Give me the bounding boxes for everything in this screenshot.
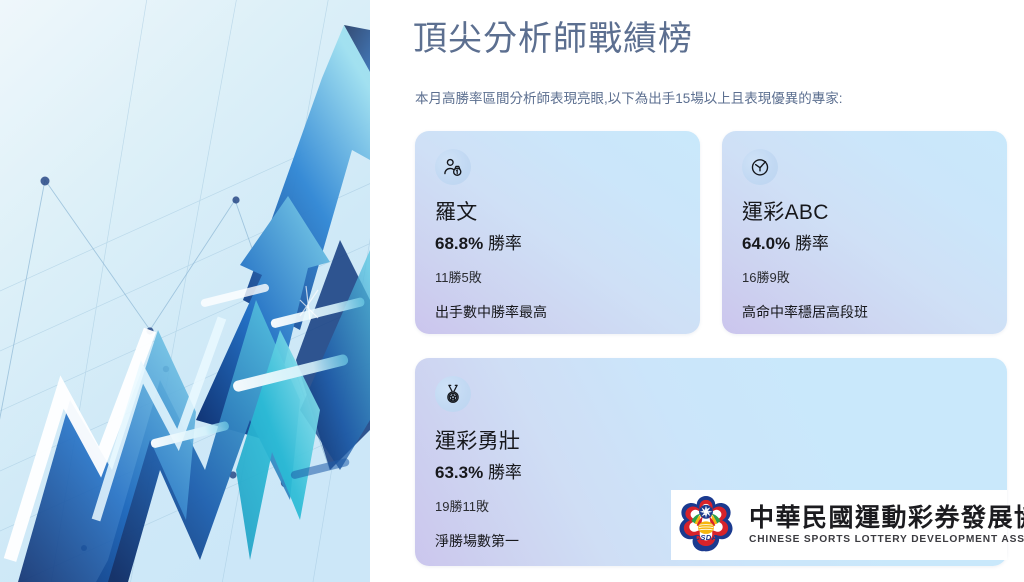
analyst-note: 出手數中勝率最高 [435, 303, 680, 322]
win-rate-label: 勝率 [488, 463, 522, 482]
csda-plum-blossom-emblem: CSDA [673, 492, 739, 558]
analyst-record: 11勝5敗 [435, 269, 680, 287]
analyst-leaderboard-page: 頂尖分析師戰績榜 本月高勝率區間分析師表現亮眼,以下為出手15場以上且表現優異的… [0, 0, 1024, 582]
association-name-cn: 中華民國運動彩券發展協會 [749, 503, 1024, 533]
top-ranked-analyst-icon [435, 149, 471, 185]
analyst-name: 羅文 [435, 199, 680, 226]
analyst-win-rate: 64.0% 勝率 [742, 232, 987, 255]
association-logo: CSDA 中華民國運動彩券發展協會 CHINESE SPORTS LOTTERY… [671, 490, 1007, 560]
analyst-card[interactable]: 羅文 68.8% 勝率 11勝5敗 出手數中勝率最高 [415, 131, 700, 334]
analyst-name: 運彩ABC [742, 199, 987, 226]
content-panel: 頂尖分析師戰績榜 本月高勝率區間分析師表現亮眼,以下為出手15場以上且表現優異的… [370, 0, 1024, 582]
hero-illustration [0, 0, 370, 582]
analyst-card[interactable]: 運彩ABC 64.0% 勝率 16勝9敗 高命中率穩居高段班 [722, 131, 1007, 334]
win-rate-value: 63.3% [435, 463, 483, 482]
clock-check-icon [742, 149, 778, 185]
win-rate-label: 勝率 [795, 234, 829, 253]
win-rate-label: 勝率 [488, 234, 522, 253]
analyst-note: 高命中率穩居高段班 [742, 303, 987, 322]
win-rate-value: 64.0% [742, 234, 790, 253]
analyst-name: 運彩勇壯 [435, 428, 987, 455]
analyst-record: 16勝9敗 [742, 269, 987, 287]
win-rate-value: 68.8% [435, 234, 483, 253]
upward-arrow-chart-illustration [0, 0, 370, 582]
medal-star-icon [435, 376, 471, 412]
association-name-block: 中華民國運動彩券發展協會 CHINESE SPORTS LOTTERY DEVE… [749, 503, 1024, 547]
emblem-text: CSDA [694, 533, 717, 542]
analyst-win-rate: 63.3% 勝率 [435, 461, 987, 484]
association-name-en: CHINESE SPORTS LOTTERY DEVELOPMENT ASSOC… [749, 533, 1024, 547]
page-subtitle: 本月高勝率區間分析師表現亮眼,以下為出手15場以上且表現優異的專家: [415, 89, 843, 109]
analyst-win-rate: 68.8% 勝率 [435, 232, 680, 255]
page-title: 頂尖分析師戰績榜 [413, 16, 693, 62]
